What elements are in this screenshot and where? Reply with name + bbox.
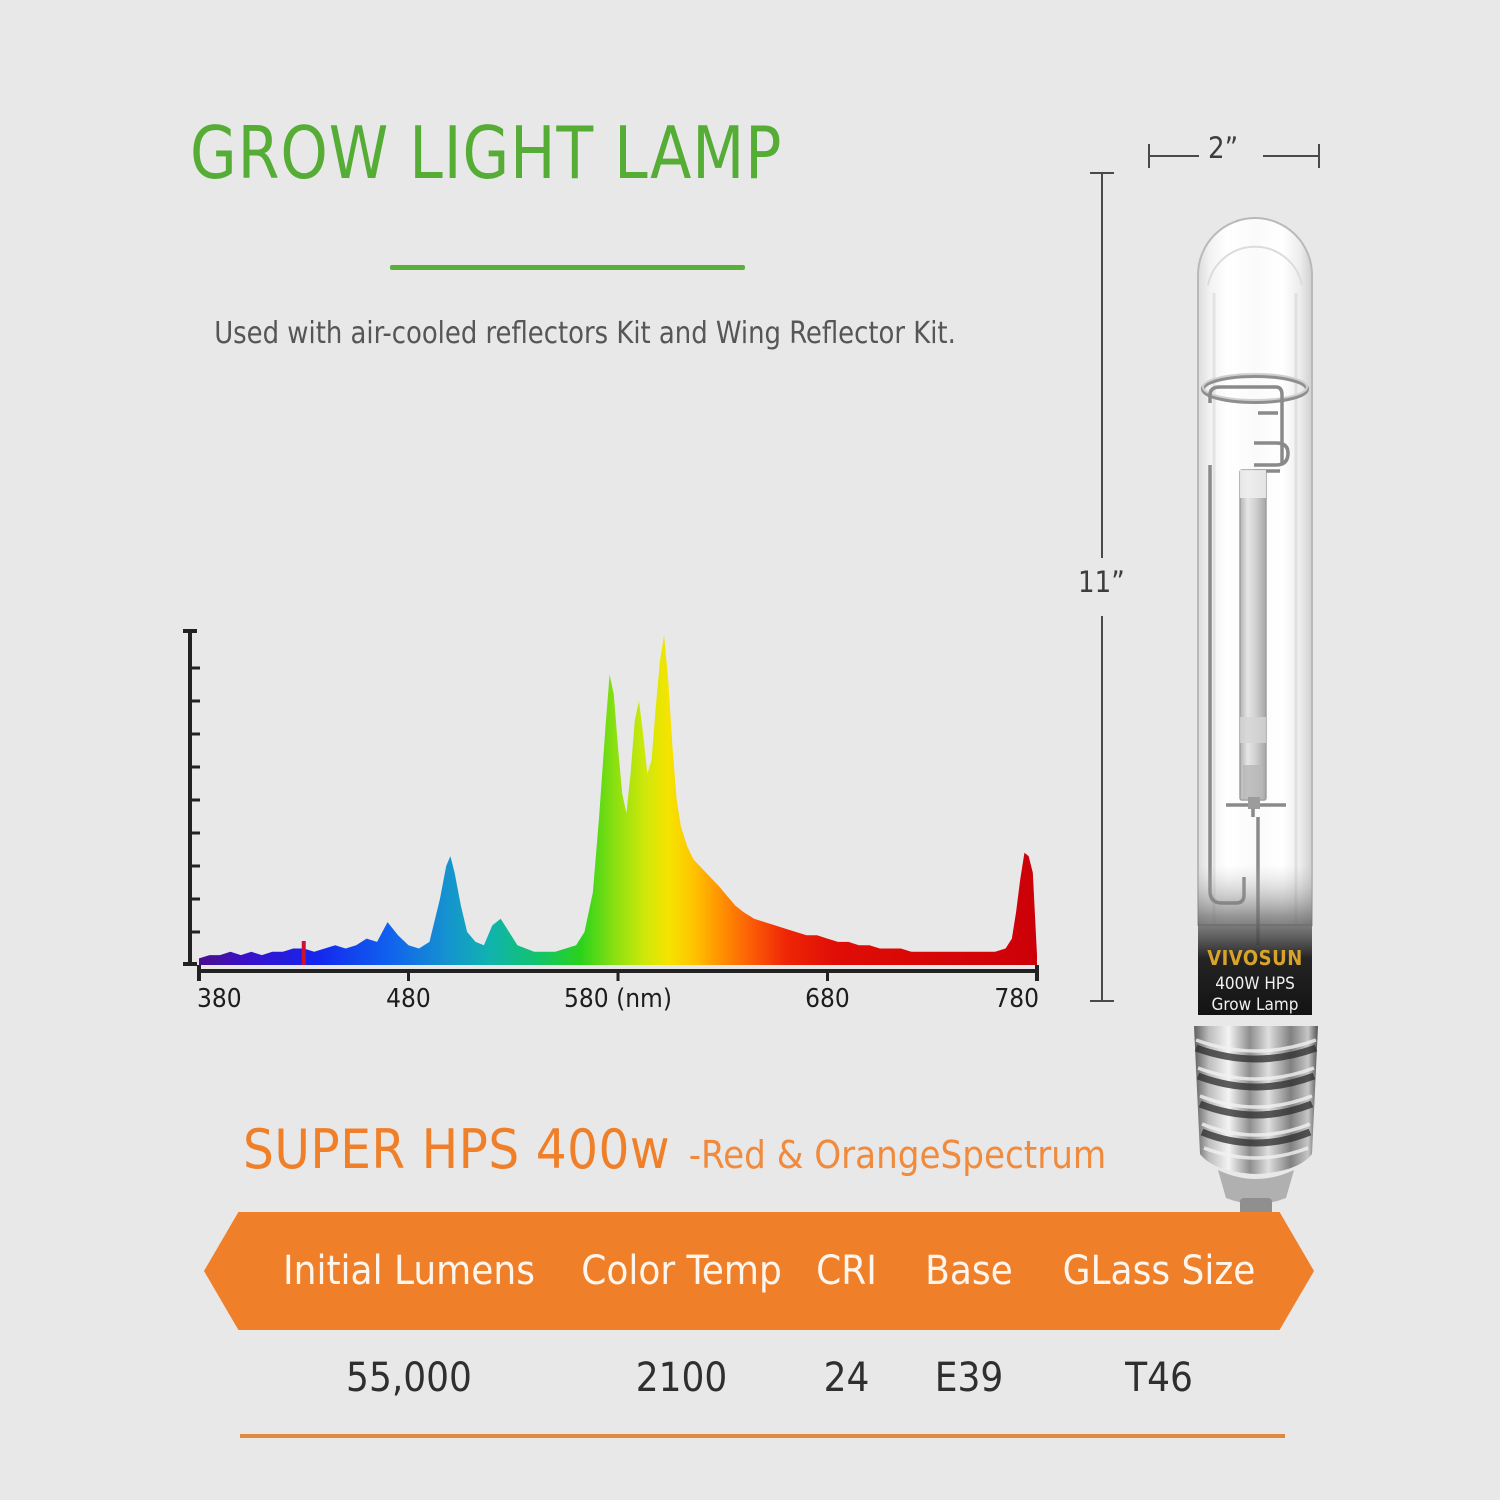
product-name: SUPER HPS 400w [243,1118,670,1181]
arc-tube [1240,470,1266,800]
stem-pinch [1248,797,1260,809]
spec-header-initial-lumens: Initial Lumens [244,1248,574,1294]
chart-plot-area [199,635,1037,965]
spec-value-row: 55,000 2100 24 E39 T46 [204,1345,1314,1411]
infographic-canvas: GROW LIGHT LAMP Used with air-cooled ref… [0,0,1500,1500]
x-tick-label: 480 [386,984,431,1014]
height-dimension-label: 11” [1078,565,1125,599]
spec-header-row: Initial Lumens Color Temp CRI Base GLass… [204,1212,1314,1330]
spec-value-cri: 24 [789,1355,904,1401]
spec-header-base: Base [904,1248,1034,1294]
bottom-rule [240,1434,1285,1438]
arc-tube-joint [1240,717,1266,743]
product-name-row: SUPER HPS 400w -Red & OrangeSpectrum [243,1118,1106,1181]
spectrum-chart: 380480580 (nm)680780 [178,625,1048,1020]
product-spectrum-note: -Red & OrangeSpectrum [689,1133,1107,1177]
spec-value-base: E39 [904,1355,1034,1401]
x-tick-label: 380 [197,984,242,1014]
spec-value-initial-lumens: 55,000 [244,1355,574,1401]
spec-header-glass-size: GLass Size [1034,1248,1284,1294]
x-tick-label: 680 [805,984,850,1014]
width-dimension-label: 2” [1208,131,1238,165]
bulb-screw-base [1178,1022,1334,1237]
chart-y-axis [183,630,200,965]
x-tick-label: 580 (nm) [564,984,672,1014]
spec-header-color-temp: Color Temp [574,1248,789,1294]
bulb-brand-label: VIVOSUN [1207,946,1303,970]
x-tick-label: 780 [994,984,1039,1014]
bulb-spec-line2: Grow Lamp [1212,995,1299,1015]
page-subtitle: Used with air-cooled reflectors Kit and … [196,312,974,356]
arc-tube-top-cap [1240,470,1266,498]
bulb-spec-line1: 400W HPS [1215,974,1295,994]
title-divider [390,265,745,270]
spec-banner: Initial Lumens Color Temp CRI Base GLass… [204,1212,1314,1330]
page-title: GROW LIGHT LAMP [190,117,990,189]
arc-tube-bottom-cap [1243,765,1263,799]
chart-x-axis: 380480580 (nm)680780 [197,965,1039,1014]
spec-value-color-temp: 2100 [574,1355,789,1401]
spec-header-cri: CRI [789,1248,904,1294]
spec-value-glass-size: T46 [1034,1355,1284,1401]
bulb-illustration: VIVOSUN 400W HPS Grow Lamp [1140,165,1370,1055]
